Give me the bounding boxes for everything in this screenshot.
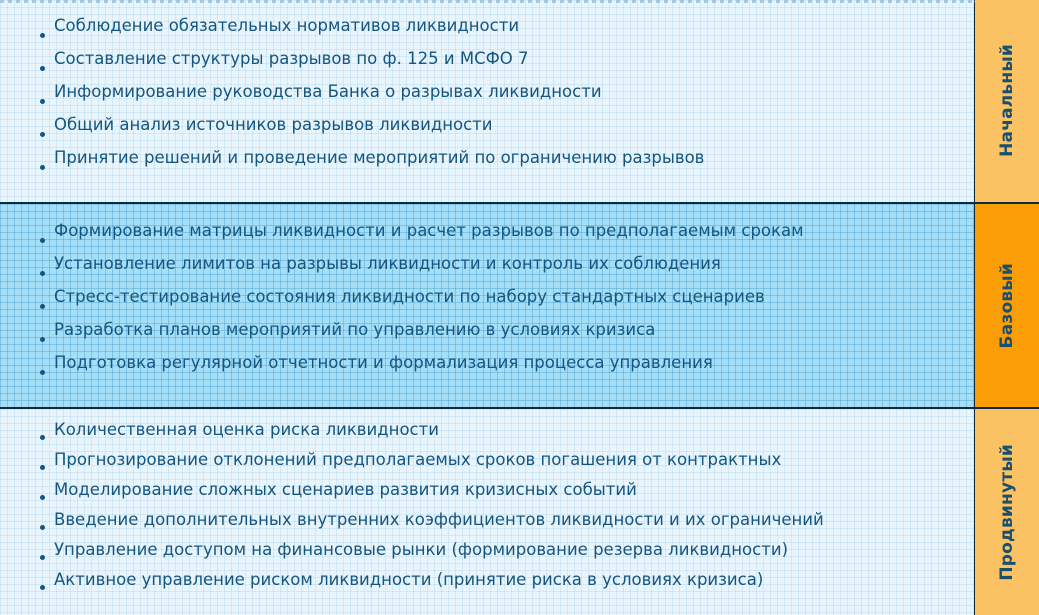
list-item: Активное управление риском ликвидности (… (40, 572, 961, 602)
maturity-levels-diagram: Соблюдение обязательных нормативов ликви… (0, 0, 1039, 615)
bullet-list-basic: Формирование матрицы ликвидности и расче… (0, 223, 975, 388)
list-item: Количественная оценка риска ликвидности (40, 422, 961, 452)
level-row-initial: Соблюдение обязательных нормативов ликви… (0, 0, 1039, 202)
level-content-basic: Формирование матрицы ликвидности и расче… (0, 204, 975, 408)
list-item: Составление структуры разрывов по ф. 125… (40, 51, 961, 84)
level-label-advanced: Продвинутый (975, 409, 1039, 615)
level-row-basic: Формирование матрицы ликвидности и расче… (0, 204, 1039, 408)
list-item: Формирование матрицы ликвидности и расче… (40, 223, 961, 256)
level-label-text: Продвинутый (997, 444, 1017, 581)
list-item: Принятие решений и проведение мероприяти… (40, 150, 961, 183)
list-item: Общий анализ источников разрывов ликвидн… (40, 117, 961, 150)
level-label-initial: Начальный (975, 0, 1039, 202)
list-item: Управление доступом на финансовые рынки … (40, 542, 961, 572)
list-item: Соблюдение обязательных нормативов ликви… (40, 18, 961, 51)
list-item: Разработка планов мероприятий по управле… (40, 322, 961, 355)
list-item: Моделирование сложных сценариев развития… (40, 482, 961, 512)
list-item: Подготовка регулярной отчетности и форма… (40, 355, 961, 388)
bullet-list-advanced: Количественная оценка риска ликвидности … (0, 422, 975, 602)
level-label-basic: Базовый (975, 204, 1039, 408)
level-row-advanced: Количественная оценка риска ликвидности … (0, 409, 1039, 615)
level-label-text: Базовый (997, 263, 1017, 348)
list-item: Установление лимитов на разрывы ликвидно… (40, 256, 961, 289)
list-item: Стресс-тестирование состояния ликвидност… (40, 289, 961, 322)
list-item: Прогнозирование отклонений предполагаемы… (40, 452, 961, 482)
level-content-advanced: Количественная оценка риска ликвидности … (0, 409, 975, 615)
list-item: Информирование руководства Банка о разры… (40, 84, 961, 117)
list-item: Введение дополнительных внутренних коэфф… (40, 512, 961, 542)
level-label-text: Начальный (997, 44, 1017, 157)
level-content-initial: Соблюдение обязательных нормативов ликви… (0, 0, 975, 202)
bullet-list-initial: Соблюдение обязательных нормативов ликви… (0, 18, 975, 183)
